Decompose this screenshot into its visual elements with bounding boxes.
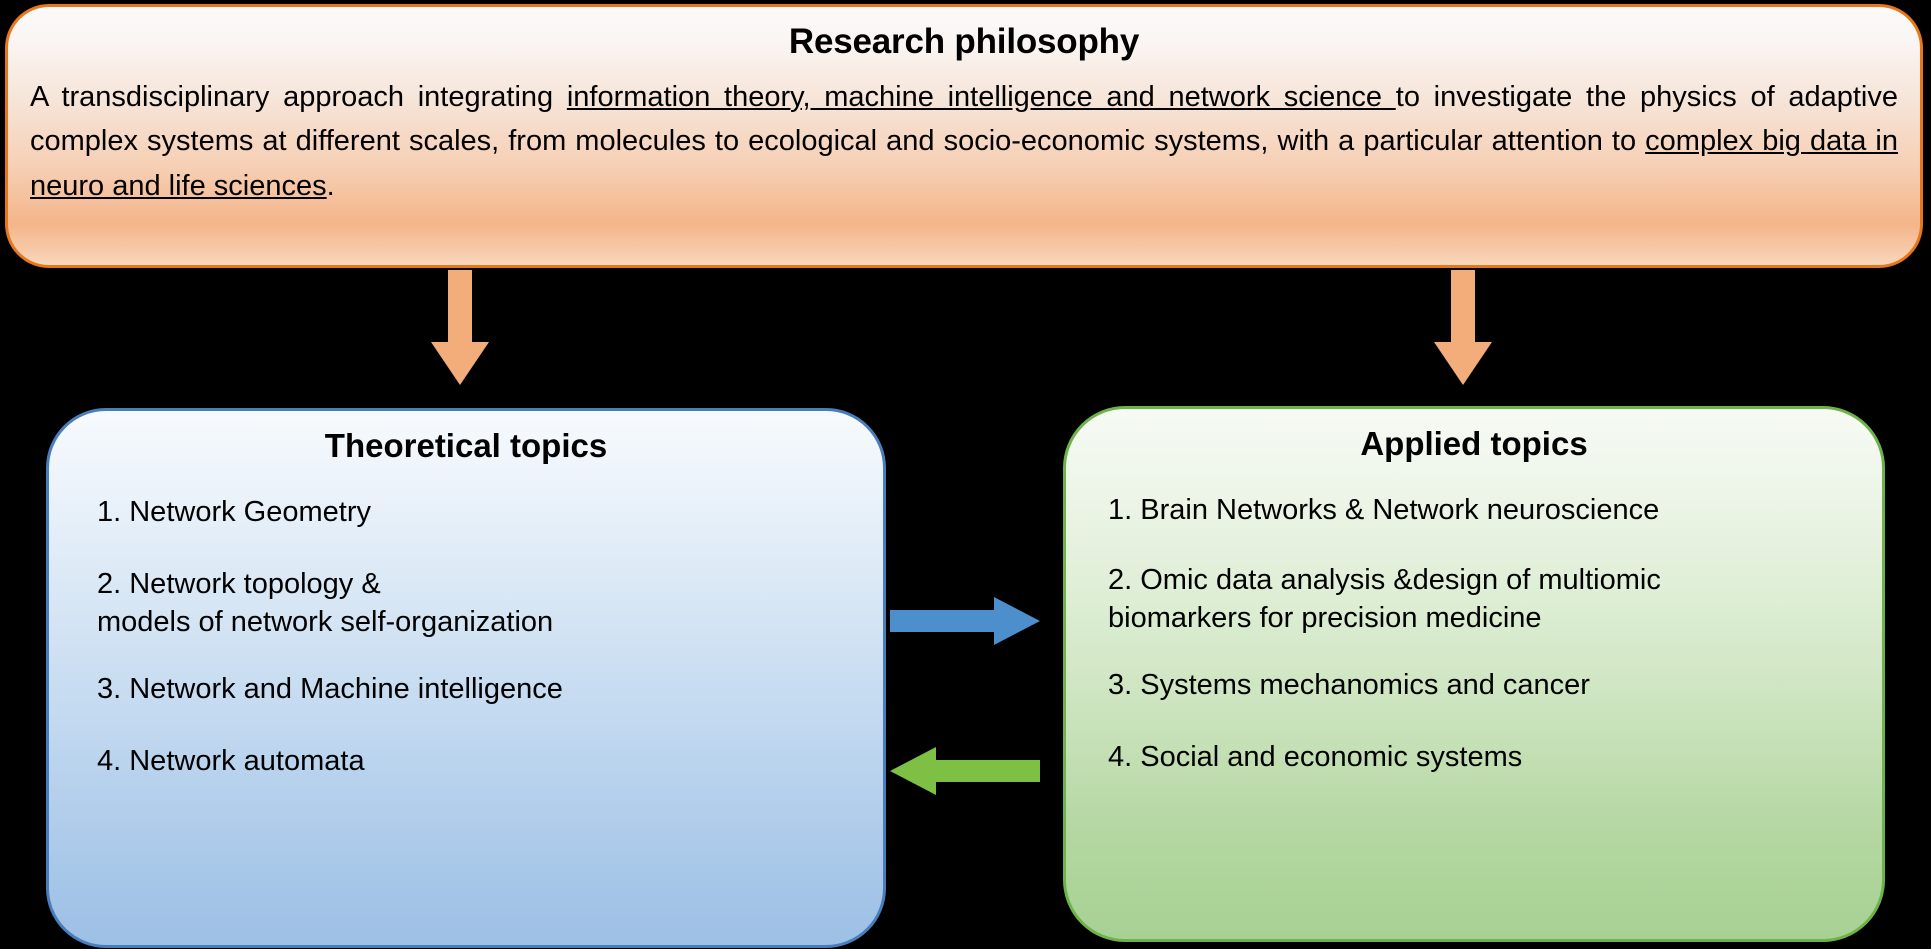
arrow-shaft: [1451, 270, 1475, 348]
applied-topics-list: 1. Brain Networks & Network neuroscience…: [1108, 492, 1882, 776]
applied-topics-title: Applied topics: [1066, 426, 1882, 462]
philosophy-segment-underlined-1: information theory, machine intelligence…: [567, 81, 1396, 113]
research-philosophy-text: A transdisciplinary approach integrating…: [30, 75, 1898, 210]
theoretical-topics-list: 1. Network Geometry 2. Network topology …: [97, 494, 883, 780]
list-item: 3. Systems mechanomics and cancer: [1108, 667, 1882, 705]
arrow-theoretical-to-applied-icon: [890, 597, 1040, 645]
list-item: 4. Network automata: [97, 743, 883, 781]
arrow-shaft: [890, 610, 998, 632]
arrow-shaft: [932, 760, 1040, 782]
arrow-head: [890, 747, 936, 795]
list-item: 3. Network and Machine intelligence: [97, 671, 883, 709]
arrow-head: [431, 342, 489, 385]
research-philosophy-box: Research philosophy A transdisciplinary …: [5, 4, 1923, 268]
philosophy-segment-plain-1: A transdisciplinary approach integrating: [30, 81, 567, 113]
arrow-philosophy-to-applied-icon: [1434, 270, 1492, 385]
list-item: 1. Brain Networks & Network neuroscience: [1108, 492, 1882, 530]
arrow-head: [1434, 342, 1492, 385]
arrow-head: [994, 597, 1040, 645]
list-item: 2. Network topology & models of network …: [97, 566, 883, 641]
diagram-canvas: Research philosophy A transdisciplinary …: [0, 0, 1931, 949]
arrow-applied-to-theoretical-icon: [890, 747, 1040, 795]
theoretical-topics-box: Theoretical topics 1. Network Geometry 2…: [46, 408, 886, 948]
applied-topics-box: Applied topics 1. Brain Networks & Netwo…: [1063, 406, 1885, 942]
theoretical-topics-title: Theoretical topics: [49, 428, 883, 464]
list-item: 1. Network Geometry: [97, 494, 883, 532]
philosophy-segment-period: .: [327, 170, 335, 202]
arrow-philosophy-to-theoretical-icon: [431, 270, 489, 385]
research-philosophy-title: Research philosophy: [8, 23, 1920, 62]
list-item: 2. Omic data analysis &design of multiom…: [1108, 562, 1882, 637]
list-item: 4. Social and economic systems: [1108, 739, 1882, 777]
arrow-shaft: [448, 270, 472, 348]
